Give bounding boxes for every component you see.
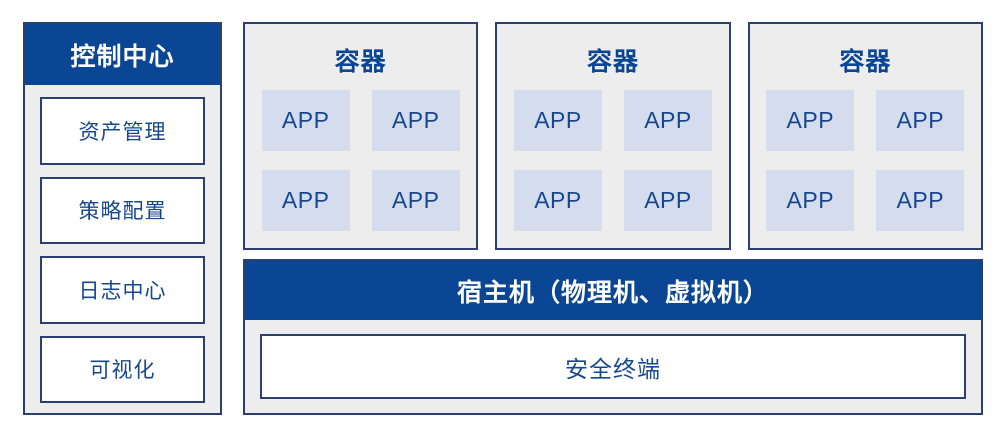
app-box[interactable]: APP bbox=[766, 90, 854, 151]
container-title: 容器 bbox=[839, 42, 891, 78]
container-title: 容器 bbox=[587, 42, 639, 78]
container-title: 容器 bbox=[335, 42, 387, 78]
app-box[interactable]: APP bbox=[766, 170, 854, 231]
host-machine-header: 宿主机（物理机、虚拟机） bbox=[245, 261, 981, 320]
host-machine-panel: 宿主机（物理机、虚拟机） 安全终端 bbox=[243, 259, 983, 415]
app-box[interactable]: APP bbox=[262, 170, 350, 231]
container-box: 容器 APP APP APP APP bbox=[243, 22, 478, 250]
diagram-canvas: 控制中心 资产管理 策略配置 日志中心 可视化 容器 APP APP APP A… bbox=[0, 0, 1001, 437]
control-center-panel: 控制中心 资产管理 策略配置 日志中心 可视化 bbox=[23, 22, 222, 415]
app-box[interactable]: APP bbox=[876, 170, 964, 231]
security-endpoint-box[interactable]: 安全终端 bbox=[260, 334, 966, 399]
app-grid: APP APP APP APP bbox=[766, 90, 964, 231]
container-row: 容器 APP APP APP APP 容器 APP APP APP APP 容器… bbox=[243, 22, 983, 250]
app-grid: APP APP APP APP bbox=[262, 90, 460, 231]
app-box[interactable]: APP bbox=[624, 170, 712, 231]
app-box[interactable]: APP bbox=[262, 90, 350, 151]
app-box[interactable]: APP bbox=[372, 170, 460, 231]
control-center-item-label: 策略配置 bbox=[79, 195, 167, 225]
control-center-header: 控制中心 bbox=[25, 24, 220, 85]
control-center-item-asset-management[interactable]: 资产管理 bbox=[40, 97, 205, 165]
host-machine-body: 安全终端 bbox=[245, 320, 981, 413]
app-box[interactable]: APP bbox=[624, 90, 712, 151]
control-center-item-label: 日志中心 bbox=[79, 275, 167, 305]
app-box[interactable]: APP bbox=[372, 90, 460, 151]
control-center-item-label: 资产管理 bbox=[79, 116, 167, 146]
app-box[interactable]: APP bbox=[876, 90, 964, 151]
container-box: 容器 APP APP APP APP bbox=[495, 22, 730, 250]
control-center-item-policy-configuration[interactable]: 策略配置 bbox=[40, 177, 205, 245]
app-box[interactable]: APP bbox=[514, 170, 602, 231]
control-center-item-log-center[interactable]: 日志中心 bbox=[40, 256, 205, 324]
app-box[interactable]: APP bbox=[514, 90, 602, 151]
control-center-item-visualization[interactable]: 可视化 bbox=[40, 336, 205, 404]
control-center-item-label: 可视化 bbox=[90, 354, 156, 384]
app-grid: APP APP APP APP bbox=[514, 90, 712, 231]
control-center-item-list: 资产管理 策略配置 日志中心 可视化 bbox=[25, 85, 220, 413]
container-box: 容器 APP APP APP APP bbox=[748, 22, 983, 250]
